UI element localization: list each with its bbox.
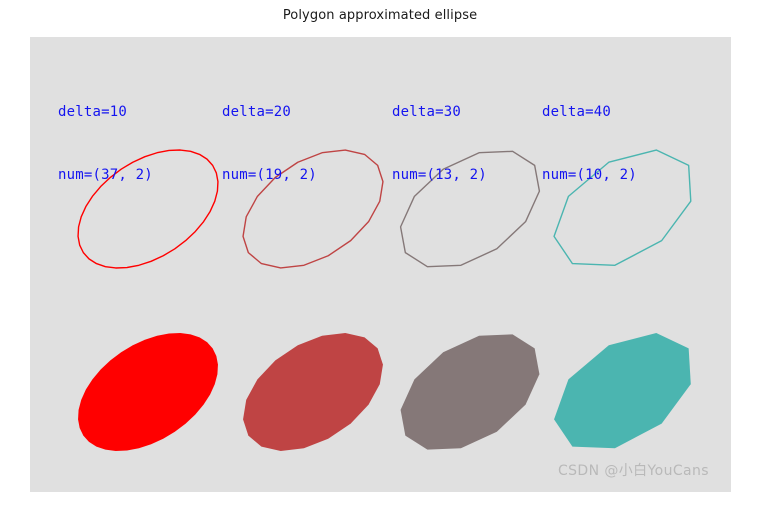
polygon-filled-1 bbox=[78, 333, 218, 451]
plot-area: delta=10 num=(37, 2) delta=20 num=(19, 2… bbox=[30, 37, 731, 492]
column-label-1-num: num=(37, 2) bbox=[58, 165, 153, 186]
page-title: Polygon approximated ellipse bbox=[0, 8, 760, 23]
column-label-3-delta: delta=30 bbox=[392, 102, 487, 123]
column-label-4-delta: delta=40 bbox=[542, 102, 637, 123]
column-label-4: delta=40 num=(10, 2) bbox=[542, 60, 637, 228]
polygon-filled-4 bbox=[554, 333, 691, 448]
column-label-2-num: num=(19, 2) bbox=[222, 165, 317, 186]
column-label-2: delta=20 num=(19, 2) bbox=[222, 60, 317, 228]
column-label-3-num: num=(13, 2) bbox=[392, 165, 487, 186]
matplotlib-figure: Polygon approximated ellipse delta=10 nu… bbox=[0, 0, 760, 518]
column-label-4-num: num=(10, 2) bbox=[542, 165, 637, 186]
column-label-1: delta=10 num=(37, 2) bbox=[58, 60, 153, 228]
polygon-filled-3 bbox=[401, 334, 540, 449]
column-label-3: delta=30 num=(13, 2) bbox=[392, 60, 487, 228]
polygon-filled-2 bbox=[243, 333, 383, 451]
column-label-1-delta: delta=10 bbox=[58, 102, 153, 123]
column-label-2-delta: delta=20 bbox=[222, 102, 317, 123]
csdn-watermark: CSDN @小白YouCans bbox=[558, 460, 709, 480]
